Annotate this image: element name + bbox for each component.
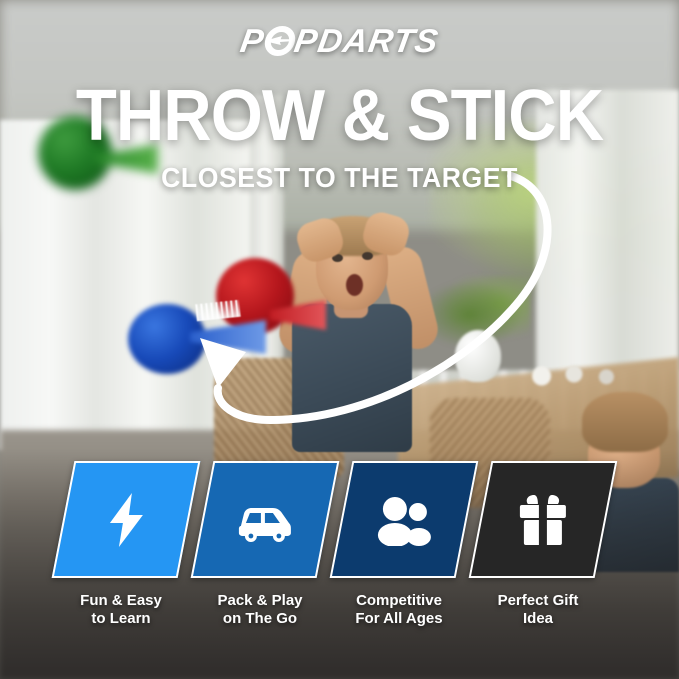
feature-label-line1: Competitive — [329, 592, 469, 610]
feature-label-line2: Idea — [468, 610, 608, 628]
logo-text-before: P — [238, 22, 267, 60]
feature-tile-fun-easy[interactable] — [52, 461, 201, 578]
feature-bar: Fun & Easy to Learn Pack & Play on The G… — [0, 455, 679, 645]
feature-label-line1: Perfect Gift — [468, 592, 608, 610]
feature-tile-perfect-gift[interactable] — [469, 461, 618, 578]
feature-label-competitive: Competitive For All Ages — [329, 592, 469, 629]
dart-glyph-icon — [269, 36, 292, 46]
hero-subheadline: CLOSEST TO THE TARGET — [17, 162, 662, 194]
people-group-icon — [373, 494, 435, 546]
feature-tile-pack-play[interactable] — [191, 461, 340, 578]
boy-eye-right — [362, 252, 373, 260]
feature-label-line1: Pack & Play — [190, 592, 330, 610]
product-marketing-image: P PDARTS THROW & STICK CLOSEST TO THE TA… — [0, 0, 679, 679]
car-icon — [233, 496, 297, 544]
feature-tile-competitive[interactable] — [330, 461, 479, 578]
gift-box-icon — [514, 491, 572, 549]
hero-headline: THROW & STICK — [24, 82, 655, 151]
feature-label-line1: Fun & Easy — [51, 592, 191, 610]
feature-label-line2: For All Ages — [329, 610, 469, 628]
feature-tiles — [57, 461, 622, 581]
feature-label-fun-easy: Fun & Easy to Learn — [51, 592, 191, 629]
boy2-hair — [582, 392, 668, 452]
feature-label-line2: to Learn — [51, 610, 191, 628]
lightning-bolt-icon — [101, 491, 151, 549]
feature-labels: Fun & Easy to Learn Pack & Play on The G… — [57, 592, 622, 652]
table-items — [520, 352, 640, 392]
white-vase — [455, 330, 501, 382]
feature-label-pack-play: Pack & Play on The Go — [190, 592, 330, 629]
brand-logo: P PDARTS — [0, 22, 679, 60]
feature-label-line2: on The Go — [190, 610, 330, 628]
feature-label-perfect-gift: Perfect Gift Idea — [468, 592, 608, 629]
logo-text-after: PDARTS — [292, 22, 442, 60]
boy-mouth — [346, 274, 363, 296]
